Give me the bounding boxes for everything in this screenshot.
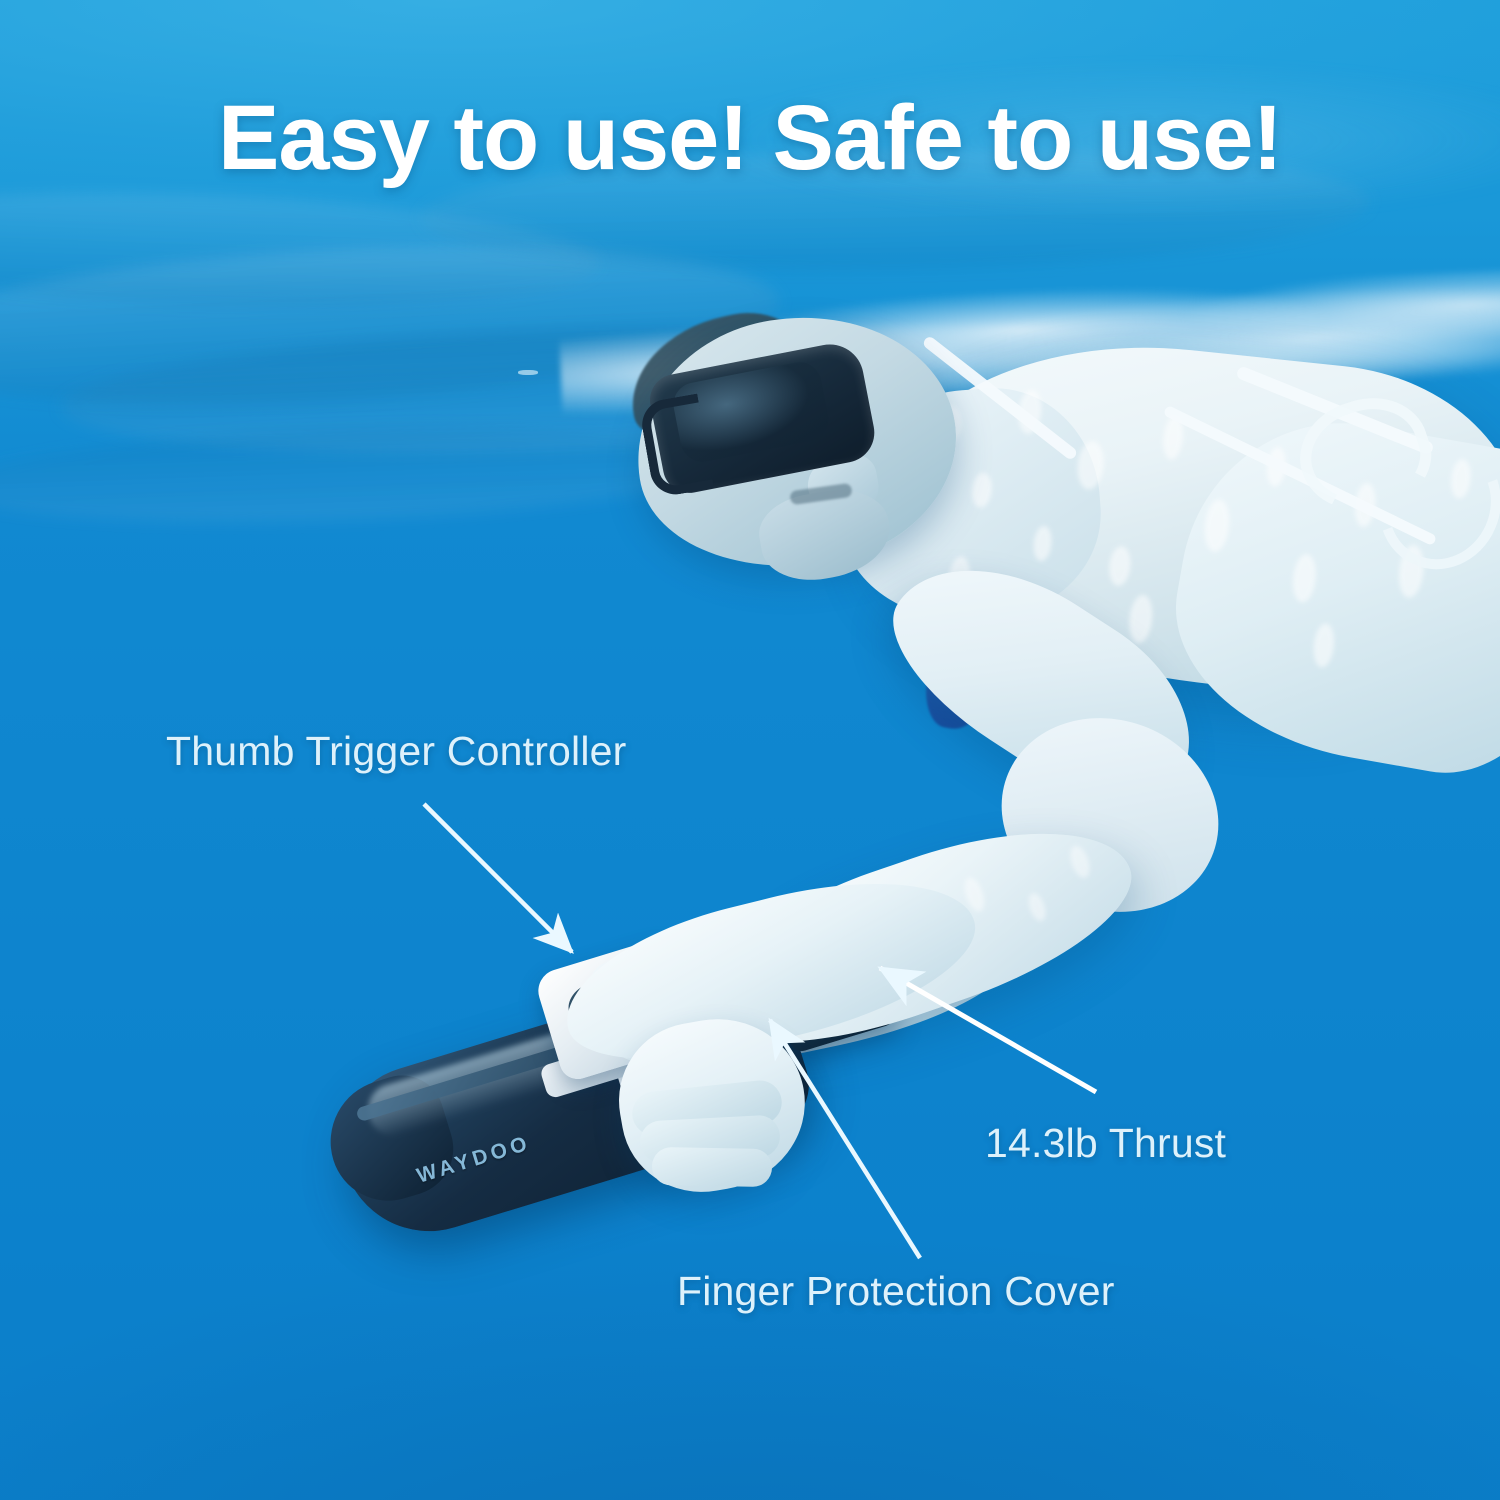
- swimmer-finger: [652, 1147, 773, 1187]
- page-title: Easy to use! Safe to use!: [0, 92, 1500, 184]
- callout-label-finger-cover: Finger Protection Cover: [677, 1268, 1115, 1315]
- callout-label-thumb-trigger: Thumb Trigger Controller: [166, 728, 627, 775]
- product-feature-image: WAYDOO WAYDOO: [0, 0, 1500, 1500]
- callout-label-thrust: 14.3lb Thrust: [985, 1120, 1226, 1167]
